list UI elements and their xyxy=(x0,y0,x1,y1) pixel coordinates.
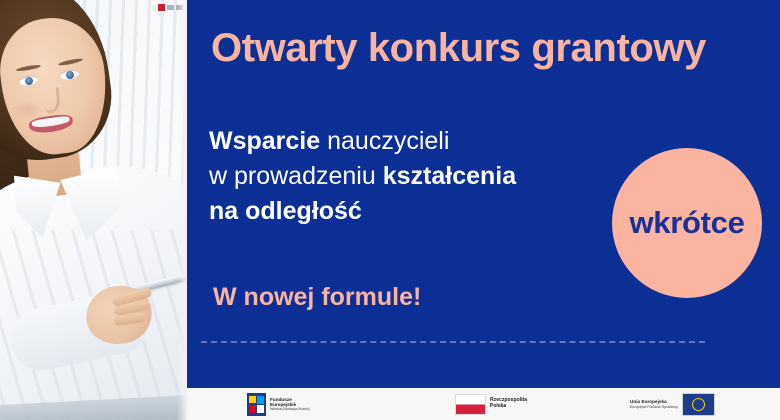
fe-square-white-icon xyxy=(257,405,264,413)
logo-line-3: Wiedza Edukacja Rozwój xyxy=(270,407,310,411)
logo-fundusze-europejskie-text: Fundusze Europejskie Wiedza Edukacja Roz… xyxy=(270,397,310,412)
logo-line-2: Polska xyxy=(490,404,527,410)
headline: Otwarty konkurs grantowy xyxy=(211,26,706,71)
fe-square-yellow-icon xyxy=(249,396,256,403)
subheadline: Wsparcie nauczycieli w prowadzeniu kszta… xyxy=(209,124,516,229)
photo-edge-fade xyxy=(177,0,187,420)
funding-logo-bar: Fundusze Europejskie Wiedza Edukacja Roz… xyxy=(187,388,780,420)
promo-banner: Otwarty konkurs grantowy Wsparcie nauczy… xyxy=(0,0,780,420)
subheadline-line2-rest: w prowadzeniu xyxy=(209,162,383,190)
logo-fundusze-europejskie: Fundusze Europejskie Wiedza Edukacja Roz… xyxy=(247,393,310,416)
logo-unia-europejska-text: Unia Europejska Europejski Fundusz Społe… xyxy=(630,399,678,409)
hero-photo xyxy=(0,0,187,420)
photo-cheek xyxy=(12,100,42,120)
photo-teeth xyxy=(31,115,70,128)
fe-square-red-icon xyxy=(249,405,256,413)
logo-rzeczpospolita-polska: Rzeczpospolita Polska xyxy=(455,394,527,415)
photo-iris-left xyxy=(25,77,33,85)
status-badge: wkrótce xyxy=(612,148,762,298)
eu-flag-icon xyxy=(682,393,715,416)
dashed-divider xyxy=(201,341,705,343)
poland-flag-icon xyxy=(455,394,486,415)
corner-logo-mark-icon xyxy=(158,4,165,11)
subheadline-line1-bold: Wsparcie xyxy=(209,127,320,155)
fe-square-blue-icon xyxy=(257,396,264,404)
subheadline-line2-bold: kształcenia xyxy=(383,162,516,190)
content-area: Otwarty konkurs grantowy Wsparcie nauczy… xyxy=(187,0,780,420)
logo-line-3: Europejski Fundusz Społeczny xyxy=(630,405,678,409)
photo-iris-right xyxy=(66,71,74,79)
status-badge-label: wkrótce xyxy=(629,205,744,241)
subheadline-line3-bold: na odległość xyxy=(209,197,362,225)
corner-logo-bar xyxy=(167,5,174,10)
logo-rzeczpospolita-polska-text: Rzeczpospolita Polska xyxy=(490,398,527,410)
fundusze-europejskie-mark-icon xyxy=(247,393,266,416)
tagline: W nowej formule! xyxy=(213,283,421,312)
subheadline-line1-rest: nauczycieli xyxy=(320,127,449,155)
eu-stars-icon xyxy=(692,398,705,411)
logo-unia-europejska: Unia Europejska Europejski Fundusz Społe… xyxy=(630,393,715,416)
